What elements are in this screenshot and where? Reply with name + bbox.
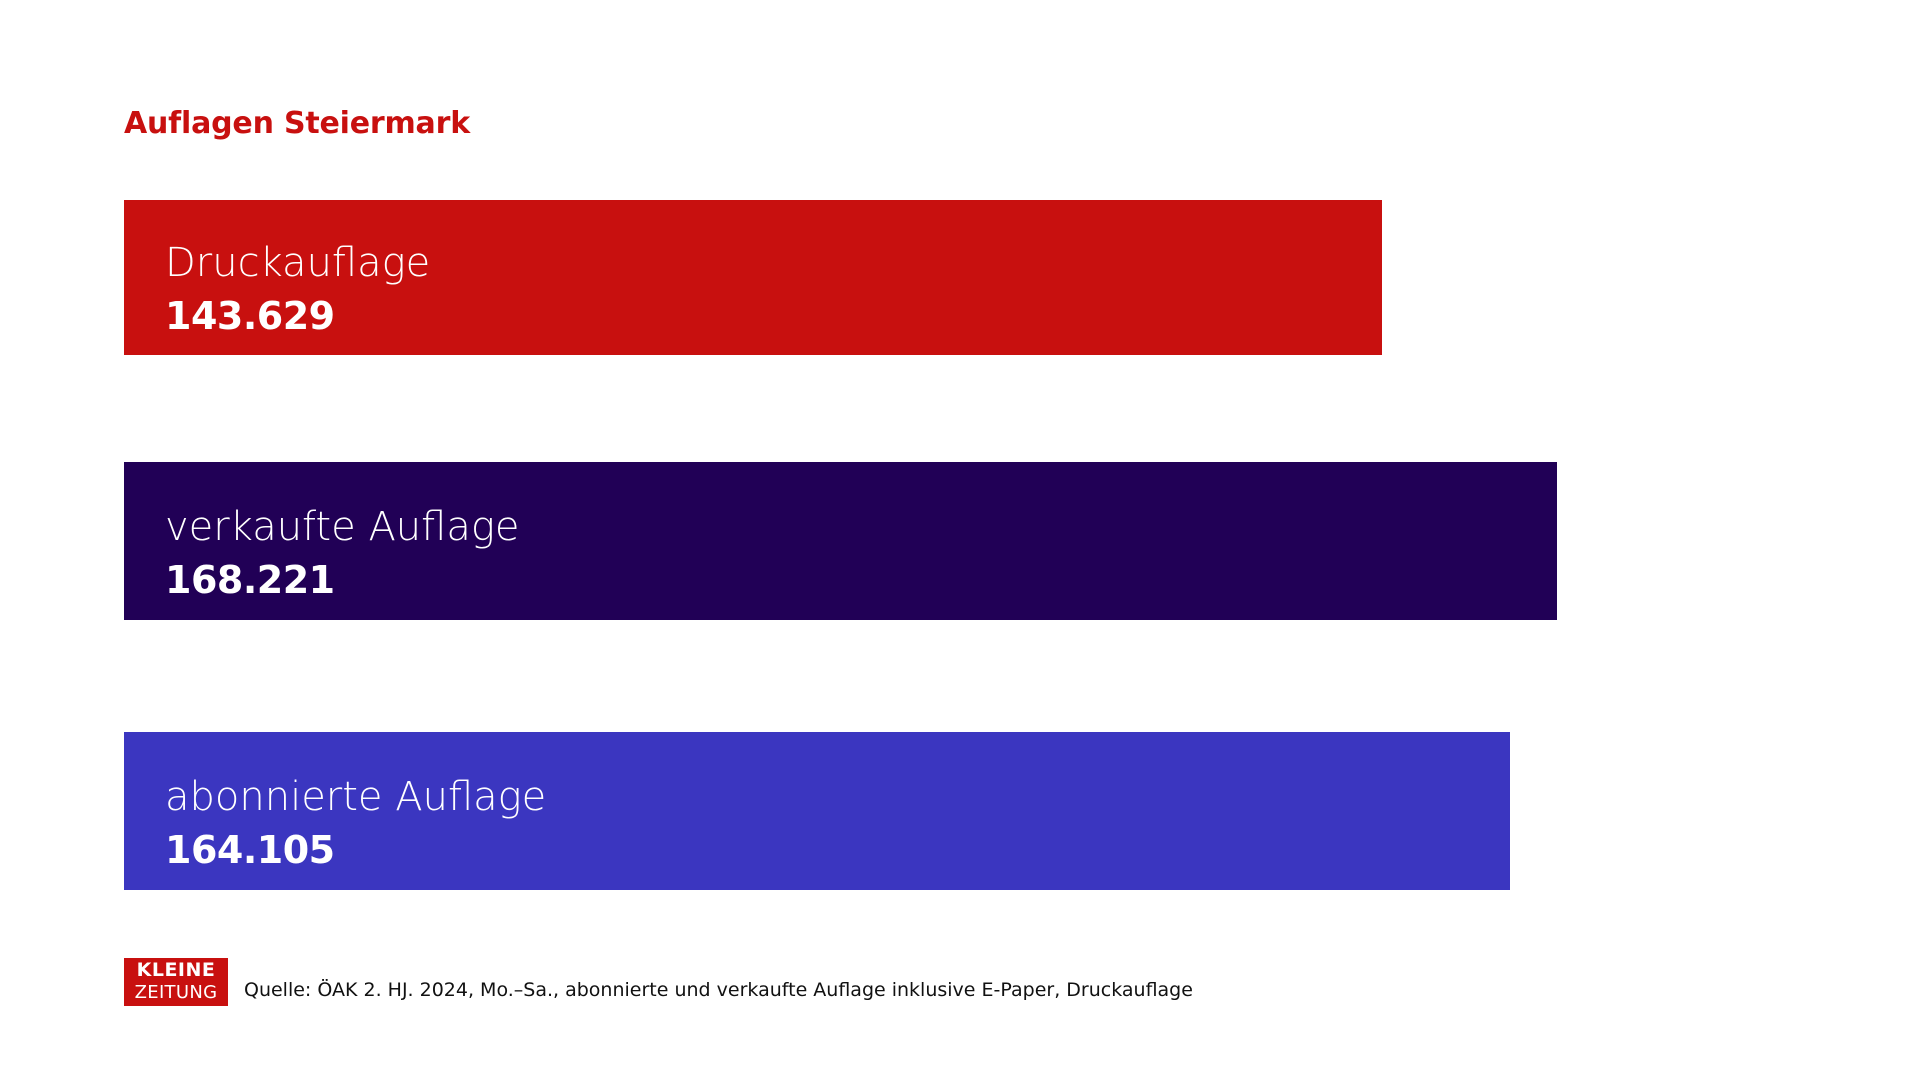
kleine-zeitung-logo: KLEINE ZEITUNG	[124, 958, 228, 1006]
bar-verkaufte-auflage: verkaufte Auflage 168.221	[124, 462, 1557, 620]
bar-value-abonnierte-auflage: 164.105	[165, 831, 335, 869]
bar-label-verkaufte-auflage: verkaufte Auflage	[165, 507, 519, 547]
bar-value-druckauflage: 143.629	[165, 297, 335, 335]
page-title: Auflagen Steiermark	[124, 106, 470, 141]
infographic-canvas: Auflagen Steiermark Druckauflage 143.629…	[0, 0, 1920, 1080]
logo-text-zeitung: ZEITUNG	[135, 984, 218, 1002]
bar-druckauflage: Druckauflage 143.629	[124, 200, 1382, 355]
source-note: Quelle: ÖAK 2. HJ. 2024, Mo.–Sa., abonni…	[244, 979, 1193, 1007]
bar-label-abonnierte-auflage: abonnierte Auflage	[165, 777, 546, 817]
bar-label-druckauflage: Druckauflage	[165, 243, 430, 283]
footer: KLEINE ZEITUNG Quelle: ÖAK 2. HJ. 2024, …	[124, 957, 1193, 1007]
logo-text-kleine: KLEINE	[137, 961, 216, 980]
bar-value-verkaufte-auflage: 168.221	[165, 561, 335, 599]
bar-abonnierte-auflage: abonnierte Auflage 164.105	[124, 732, 1510, 890]
